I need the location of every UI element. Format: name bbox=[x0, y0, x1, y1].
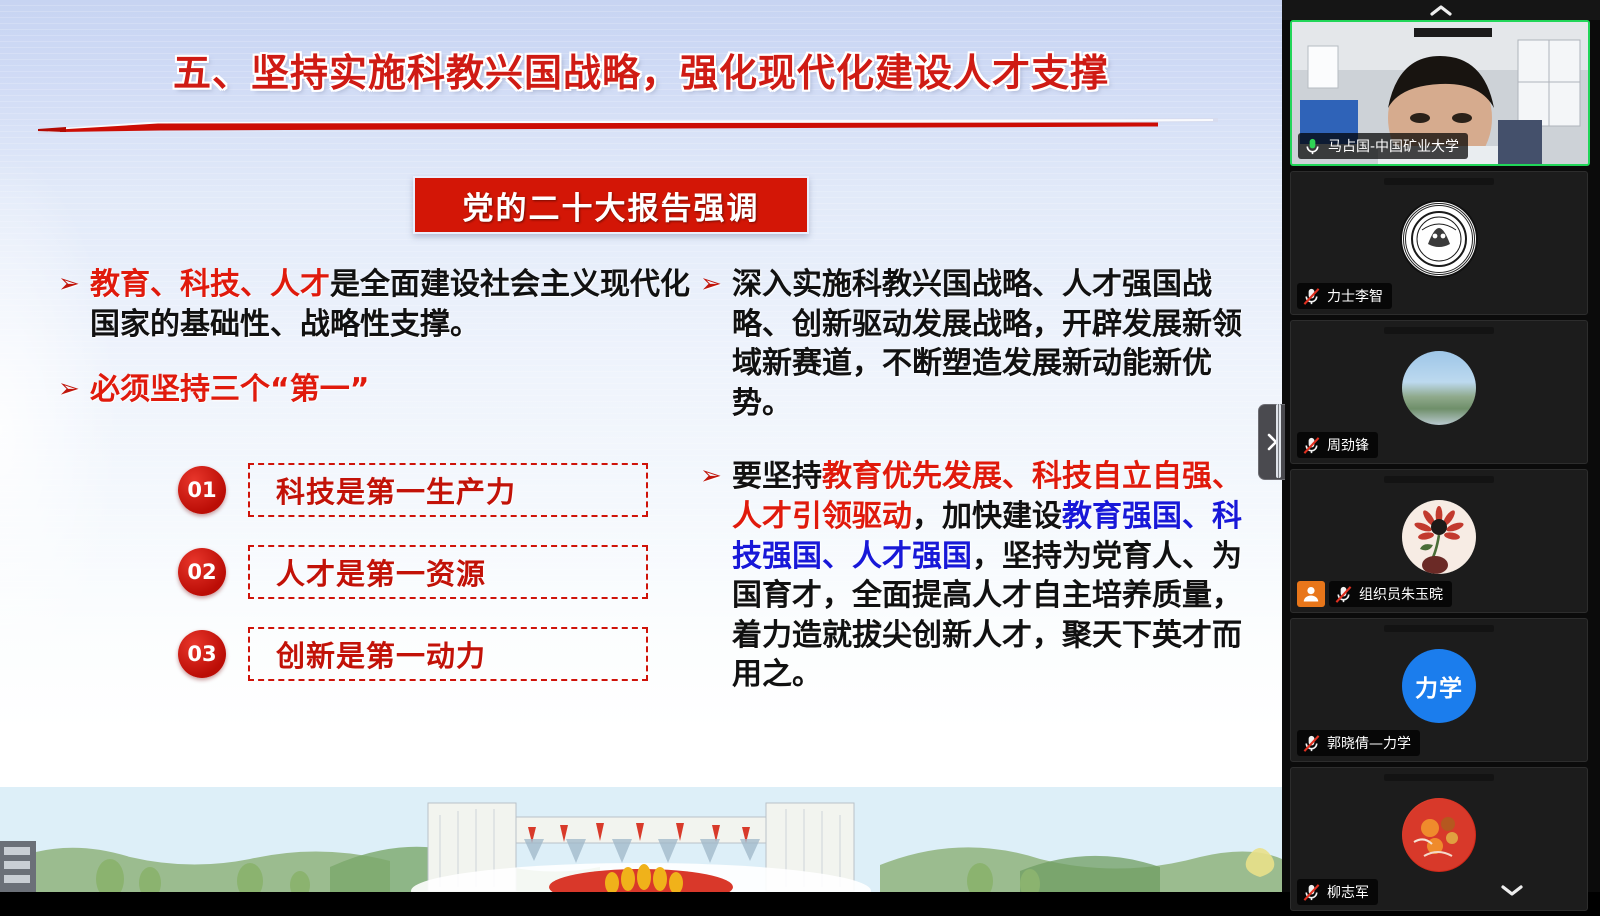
arrow-bullet-icon: ➢ bbox=[58, 271, 84, 297]
bullet-item: ➢ 教育、科技、人才是全面建设社会主义现代化国家的基础性、战略性支撑。 bbox=[58, 265, 698, 344]
microphone-muted-icon bbox=[1302, 287, 1321, 306]
bullet-text: 深入实施科教兴国战略、人才强国战略、创新驱动发展战略，开辟发展新领域新赛道，不断… bbox=[732, 265, 1260, 423]
microphone-muted-icon bbox=[1334, 585, 1353, 604]
bullet-seg-3: ，加快建设 bbox=[912, 499, 1062, 534]
bullet-text-body: 深入实施科教兴国战略、人才强国战略、创新驱动发展战略，开辟发展新领域新赛道，不断… bbox=[732, 267, 1242, 421]
participant-video-strip: 马占国-中国矿业大学 bbox=[1282, 0, 1600, 892]
participant-tile[interactable]: 周劲锋 bbox=[1290, 320, 1588, 464]
bullet-text: 必须坚持三个“第一” bbox=[90, 370, 369, 410]
participant-name: 郭晓倩—力学 bbox=[1327, 733, 1411, 753]
shared-slide: 五、坚持实施科教兴国战略，强化现代化建设人才支撑 党的二十大报告强调 ➢ 教育、… bbox=[0, 0, 1282, 892]
chevron-down-icon bbox=[1499, 883, 1525, 897]
participant-name: 周劲锋 bbox=[1327, 435, 1369, 455]
microphone-muted-icon bbox=[1302, 734, 1321, 753]
participant-name: 马占国-中国矿业大学 bbox=[1328, 136, 1459, 156]
tile-top-bar bbox=[1384, 178, 1494, 185]
participant-name-bar: 马占国-中国矿业大学 bbox=[1298, 133, 1468, 159]
participant-tile[interactable]: 力学 郭晓倩—力学 bbox=[1290, 618, 1588, 762]
item-number-badge: 02 bbox=[178, 548, 226, 596]
item-label: 创新是第一动力 bbox=[276, 633, 486, 675]
microphone-muted-icon bbox=[1302, 883, 1321, 902]
participant-tile[interactable]: 力士李智 bbox=[1290, 171, 1588, 315]
item-label: 人才是第一资源 bbox=[276, 551, 486, 593]
tile-top-bar bbox=[1384, 774, 1494, 781]
avatar bbox=[1402, 351, 1476, 425]
right-content-column: ➢ 深入实施科教兴国战略、人才强国战略、创新驱动发展战略，开辟发展新领域新赛道，… bbox=[700, 265, 1260, 709]
person-icon bbox=[1302, 585, 1320, 603]
participant-name: 力士李智 bbox=[1327, 286, 1383, 306]
bullet-seg-1: 要坚持 bbox=[732, 459, 822, 494]
slide-glow bbox=[0, 150, 120, 710]
participant-tile[interactable]: 柳志军 bbox=[1290, 767, 1588, 911]
title-underline-decoration bbox=[38, 116, 1218, 138]
campus-illustration bbox=[0, 787, 1282, 892]
participant-tile[interactable]: 马占国-中国矿业大学 bbox=[1290, 20, 1590, 166]
list-item: 01 科技是第一生产力 bbox=[178, 462, 648, 517]
bullet-text-highlight: 教育、科技、人才 bbox=[90, 267, 330, 302]
highlight-banner: 党的二十大报告强调 bbox=[413, 176, 809, 234]
meeting-screen-share-window: 五、坚持实施科教兴国战略，强化现代化建设人才支撑 党的二十大报告强调 ➢ 教育、… bbox=[0, 0, 1600, 892]
participant-tiles: 马占国-中国矿业大学 bbox=[1290, 20, 1592, 916]
participant-name: 组织员朱玉晥 bbox=[1359, 584, 1443, 604]
avatar bbox=[1402, 798, 1476, 872]
festive-avatar-icon bbox=[1402, 798, 1476, 872]
tile-top-bar bbox=[1384, 625, 1494, 632]
microphone-muted-icon bbox=[1302, 436, 1321, 455]
bullet-text: 要坚持教育优先发展、科技自立自强、人才引领驱动，加快建设教育强国、科技强国、人才… bbox=[732, 457, 1260, 695]
arrow-bullet-icon: ➢ bbox=[700, 463, 726, 489]
arrow-bullet-icon: ➢ bbox=[58, 376, 84, 402]
slide-title-container: 五、坚持实施科教兴国战略，强化现代化建设人才支撑 bbox=[0, 42, 1282, 97]
left-content-column: ➢ 教育、科技、人才是全面建设社会主义现代化国家的基础性、战略性支撑。 ➢ 必须… bbox=[58, 265, 698, 424]
item-box: 创新是第一动力 bbox=[248, 627, 648, 681]
participant-name: 柳志军 bbox=[1327, 882, 1369, 902]
participant-name-bar: 周劲锋 bbox=[1297, 432, 1378, 458]
avatar: 力学 bbox=[1402, 649, 1476, 723]
microphone-unmuted-icon bbox=[1303, 137, 1322, 156]
chevron-up-icon bbox=[1429, 4, 1453, 17]
item-box: 人才是第一资源 bbox=[248, 545, 648, 599]
arrow-bullet-icon: ➢ bbox=[700, 271, 726, 297]
item-label: 科技是第一生产力 bbox=[276, 469, 516, 511]
tile-top-bar bbox=[1384, 327, 1494, 334]
tile-top-bar bbox=[1384, 476, 1494, 483]
scroll-down-button[interactable] bbox=[1483, 876, 1541, 904]
participant-name-bar: 力士李智 bbox=[1297, 283, 1392, 309]
host-badge-icon bbox=[1297, 581, 1325, 607]
bullet-item: ➢ 必须坚持三个“第一” bbox=[58, 370, 698, 410]
item-number-badge: 03 bbox=[178, 630, 226, 678]
flower-avatar-icon bbox=[1402, 500, 1476, 574]
item-number-badge: 01 bbox=[178, 466, 226, 514]
bullet-text: 教育、科技、人才是全面建设社会主义现代化国家的基础性、战略性支撑。 bbox=[90, 265, 698, 344]
participant-name-bar: 郭晓倩—力学 bbox=[1297, 730, 1420, 756]
avatar-initials: 力学 bbox=[1415, 669, 1463, 703]
bullet-item: ➢ 深入实施科教兴国战略、人才强国战略、创新驱动发展战略，开辟发展新领域新赛道，… bbox=[700, 265, 1260, 423]
participant-name-bar: 柳志军 bbox=[1297, 879, 1378, 905]
participant-tile[interactable]: 组织员朱玉晥 bbox=[1290, 469, 1588, 613]
page-title: 五、坚持实施科教兴国战略，强化现代化建设人才支撑 bbox=[173, 42, 1109, 97]
banner-label: 党的二十大报告强调 bbox=[463, 183, 760, 228]
bullet-item: ➢ 要坚持教育优先发展、科技自立自强、人才引领驱动，加快建设教育强国、科技强国、… bbox=[700, 457, 1260, 695]
list-item: 03 创新是第一动力 bbox=[178, 626, 648, 681]
participant-name-bar: 组织员朱玉晥 bbox=[1329, 581, 1452, 607]
avatar bbox=[1400, 200, 1478, 278]
strip-resize-handle[interactable] bbox=[1276, 404, 1281, 478]
numbered-list: 01 科技是第一生产力 02 人才是第一资源 03 创新是第一动力 bbox=[178, 462, 648, 708]
university-emblem-icon bbox=[1410, 210, 1468, 268]
campus-illustration-art bbox=[0, 787, 1282, 892]
item-box: 科技是第一生产力 bbox=[248, 463, 648, 517]
university-logo-icon bbox=[1403, 203, 1475, 275]
list-item: 02 人才是第一资源 bbox=[178, 544, 648, 599]
avatar bbox=[1402, 500, 1476, 574]
scroll-up-button[interactable] bbox=[1282, 0, 1600, 20]
